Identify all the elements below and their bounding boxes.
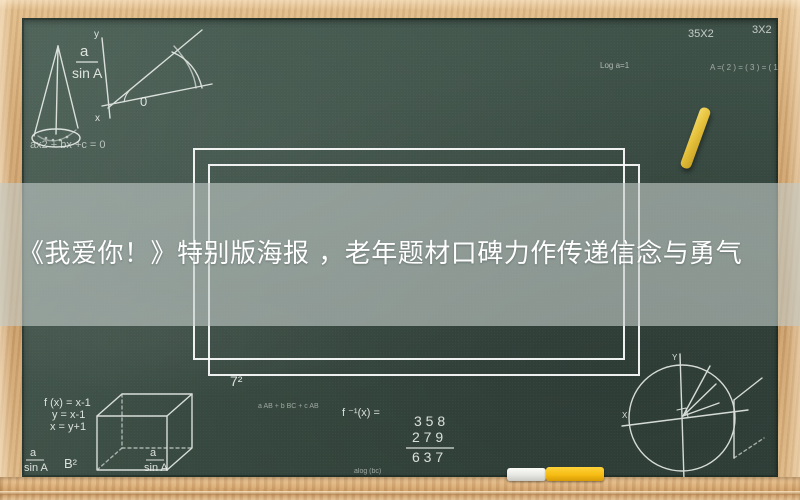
chalk-text-35x2: 35X2 — [688, 28, 714, 40]
chalk-text-sin-a: sin A — [72, 65, 103, 81]
chalk-text-b-squared: B² — [64, 456, 78, 471]
caption-title: 《我爱你！》特别版海报 ，老年题材口碑力作传递信念与勇气 — [0, 236, 800, 273]
chalk-text-circle-x: X — [622, 411, 628, 420]
cone-diagram — [32, 46, 80, 147]
chalk-text-x-eq: x = y+1 — [50, 421, 86, 433]
cube-diagram-right — [734, 378, 764, 458]
angle-diagram — [102, 30, 212, 118]
eraser-yellow-icon — [546, 467, 604, 481]
ledge-lip — [0, 491, 800, 495]
chalk-text-vector-sum: a AB + b BC + c AB — [258, 403, 319, 410]
chalk-text-sina3: sin A — [144, 462, 169, 474]
chalk-text-quadratic: ax2 + bx +c = 0 — [30, 139, 106, 151]
chalk-ledge — [0, 477, 800, 500]
chalk-text-alog: alog (bc) — [354, 468, 381, 475]
cube-diagram-center — [97, 394, 192, 470]
chalk-text-a2: a — [30, 447, 37, 459]
chalk-text-theta: 0 — [140, 94, 147, 109]
chalkboard-poster: a sin A y x 0 ax2 + bx +c = 0 f (x) = x-… — [0, 0, 800, 500]
chalk-text-matrix: A =( 2 ) = ( 3 ) = ( 1 ) — [710, 63, 778, 72]
chalk-text-a-numerator: a — [80, 43, 89, 60]
caption-band: 《我爱你！》特别版海报 ，老年题材口碑力作传递信念与勇气 — [0, 183, 800, 326]
chalk-text-3x2: 3X2 — [752, 24, 772, 36]
chalk-text-sub-2: 2 7 9 — [412, 429, 443, 445]
chalk-text-y-eq: y = x-1 — [52, 409, 85, 421]
chalk-text-sina2: sin A — [24, 462, 49, 474]
chalk-text-sub-3: 6 3 7 — [412, 449, 443, 465]
chalk-text-inverse-fn: f ⁻¹(x) = — [342, 407, 380, 419]
circle-diagram — [622, 354, 748, 477]
chalk-text-axis-y: y — [94, 29, 99, 40]
chalk-text-sub-1: 3 5 8 — [414, 413, 445, 429]
chalk-stick-icon — [679, 106, 711, 170]
eraser-white-icon — [507, 468, 546, 481]
chalk-text-a3: a — [150, 447, 157, 459]
chalk-text-log-a: Log a=1 — [600, 61, 630, 70]
chalk-text-fx: f (x) = x-1 — [44, 397, 91, 409]
chalk-text-axis-x: x — [95, 113, 100, 124]
chalk-text-circle-y: Y — [672, 353, 678, 362]
